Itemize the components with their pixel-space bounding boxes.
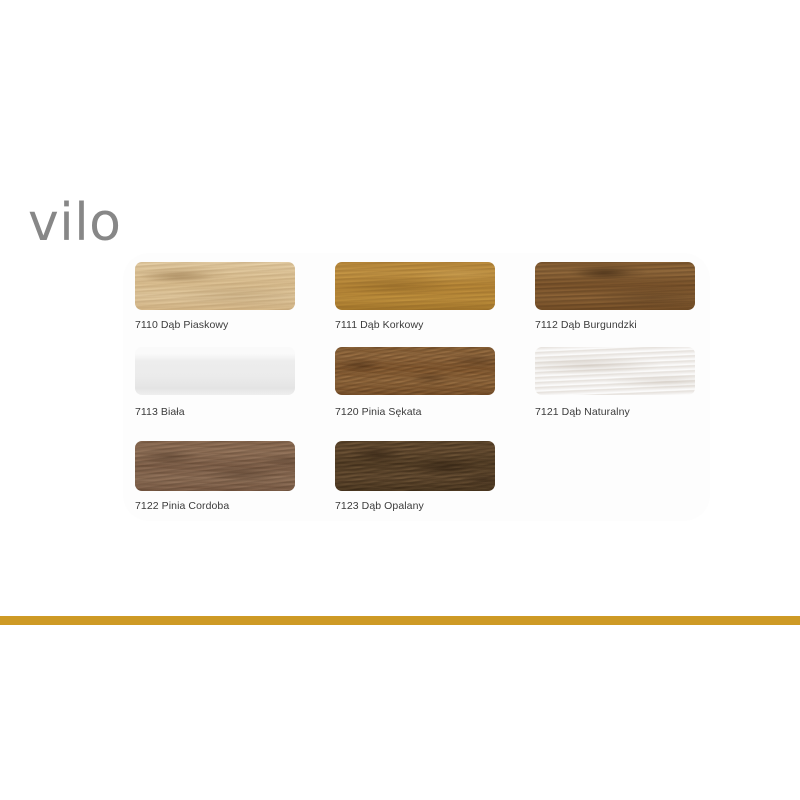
gold-accent-bar	[0, 616, 800, 625]
vilo-wordmark-text: vilo	[28, 196, 121, 253]
swatch-label-7123: 7123 Dąb Opalany	[335, 500, 495, 512]
swatch-chip-7111[interactable]	[335, 262, 495, 310]
swatch-item-7113[interactable]: 7113 Biała	[135, 347, 295, 418]
wood-figure-layer	[335, 262, 495, 310]
swatch-label-7110: 7110 Dąb Piaskowy	[135, 319, 295, 331]
wood-figure-layer	[335, 347, 495, 395]
vilo-logo: vilo	[28, 196, 208, 254]
swatch-card: 7110 Dąb Piaskowy 7111 Dąb Korkowy 7112 …	[123, 253, 710, 521]
swatch-label-7112: 7112 Dąb Burgundzki	[535, 319, 695, 331]
wood-grain-layer	[335, 262, 495, 310]
swatch-item-7110[interactable]: 7110 Dąb Piaskowy	[135, 262, 295, 331]
swatch-item-7122[interactable]: 7122 Pinia Cordoba	[135, 441, 295, 512]
swatch-chip-7121[interactable]	[535, 347, 695, 395]
swatch-label-7113: 7113 Biała	[135, 406, 295, 418]
page-canvas: vilo 7110 Dąb Piaskowy 7111 Dąb Korkowy	[0, 0, 800, 800]
swatch-item-7111[interactable]: 7111 Dąb Korkowy	[335, 262, 495, 331]
vilo-wordmark-icon: vilo	[28, 196, 208, 254]
swatch-item-7121[interactable]: 7121 Dąb Naturalny	[535, 347, 695, 418]
swatch-label-7111: 7111 Dąb Korkowy	[335, 319, 495, 331]
wood-knot-layer	[135, 441, 295, 491]
swatch-chip-7112[interactable]	[535, 262, 695, 310]
wood-grain-layer	[135, 262, 295, 310]
swatch-item-7112[interactable]: 7112 Dąb Burgundzki	[535, 262, 695, 331]
wood-grain-layer	[335, 347, 495, 395]
swatch-chip-7120[interactable]	[335, 347, 495, 395]
swatch-label-7121: 7121 Dąb Naturalny	[535, 406, 695, 418]
swatch-label-7122: 7122 Pinia Cordoba	[135, 500, 295, 512]
wood-knot-layer	[335, 441, 495, 491]
swatch-chip-7122[interactable]	[135, 441, 295, 491]
swatch-grid: 7110 Dąb Piaskowy 7111 Dąb Korkowy 7112 …	[123, 253, 710, 521]
wood-knot-layer	[335, 347, 495, 395]
swatch-item-7123[interactable]: 7123 Dąb Opalany	[335, 441, 495, 512]
wood-grain-layer	[535, 347, 695, 395]
wood-figure-layer	[535, 262, 695, 310]
wood-grain-layer	[135, 441, 295, 491]
wood-figure-layer	[335, 441, 495, 491]
gloss-highlight-layer	[135, 347, 295, 395]
swatch-chip-7123[interactable]	[335, 441, 495, 491]
swatch-chip-7113[interactable]	[135, 347, 295, 395]
wood-grain-layer	[335, 441, 495, 491]
wood-figure-layer	[135, 262, 295, 310]
wood-grain-layer	[535, 262, 695, 310]
swatch-chip-7110[interactable]	[135, 262, 295, 310]
swatch-item-7120[interactable]: 7120 Pinia Sękata	[335, 347, 495, 418]
swatch-label-7120: 7120 Pinia Sękata	[335, 406, 495, 418]
wood-figure-layer	[535, 347, 695, 395]
